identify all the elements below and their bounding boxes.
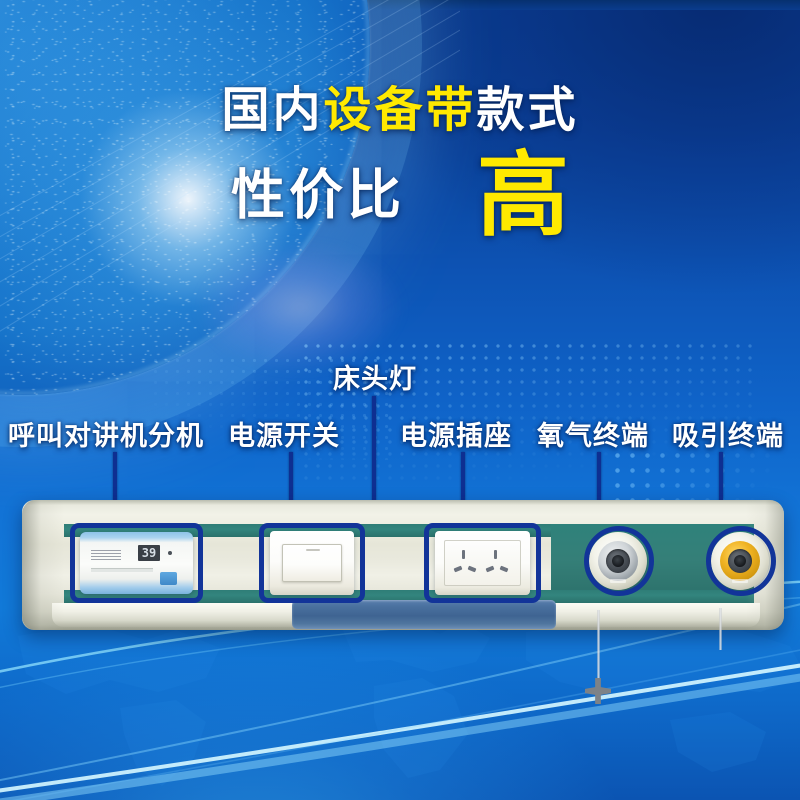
suction-terminal[interactable]	[711, 532, 769, 590]
oxygen-outlet[interactable]	[589, 532, 647, 590]
callout-label-suction-terminal: 吸引终端	[672, 414, 784, 453]
callout-label-oxygen-terminal: 氧气终端	[537, 414, 649, 453]
power-switch-rocker[interactable]	[282, 544, 342, 582]
oxygen-terminal[interactable]	[589, 532, 647, 590]
callout-label-nurse-call-intercom: 呼叫对讲机分机	[8, 414, 204, 453]
oxygen-pull-cord	[597, 610, 600, 686]
status-led-icon	[168, 551, 172, 555]
socket-pin-icon	[462, 550, 465, 559]
socket-pin-icon	[500, 566, 509, 573]
socket-pin-icon	[454, 566, 463, 573]
panel-end-cap-left	[22, 500, 64, 630]
intercom-call-button[interactable]	[160, 572, 177, 585]
outlet-label-strip	[732, 579, 748, 583]
intercom-card-slot	[91, 568, 153, 572]
bedside-lamp-diffuser	[292, 600, 556, 629]
callout-label-power-switch: 电源开关	[228, 414, 340, 453]
socket-faceplate	[444, 540, 521, 586]
callout-layer: 呼叫对讲机分机 电源开关 床头灯 电源插座 氧气终端 吸引终端	[0, 0, 800, 800]
socket-pin-icon	[494, 550, 497, 559]
medical-bed-head-panel: 39	[22, 500, 784, 630]
suction-pull-cord	[719, 608, 722, 650]
outlet-label-strip	[610, 579, 626, 583]
power-switch[interactable]	[270, 531, 354, 595]
callout-label-bedside-lamp: 床头灯	[333, 357, 417, 396]
power-socket[interactable]	[435, 531, 530, 595]
outlet-port-icon	[612, 555, 624, 567]
socket-pin-icon	[486, 566, 495, 573]
speaker-grille-icon	[91, 548, 121, 560]
intercom-display: 39	[138, 545, 160, 561]
nurse-call-intercom[interactable]: 39	[80, 532, 193, 594]
socket-pin-icon	[468, 566, 477, 573]
callout-label-power-socket: 电源插座	[400, 414, 512, 453]
outlet-port-icon	[734, 555, 746, 567]
suction-outlet[interactable]	[711, 532, 769, 590]
switch-mark-icon	[306, 549, 320, 551]
